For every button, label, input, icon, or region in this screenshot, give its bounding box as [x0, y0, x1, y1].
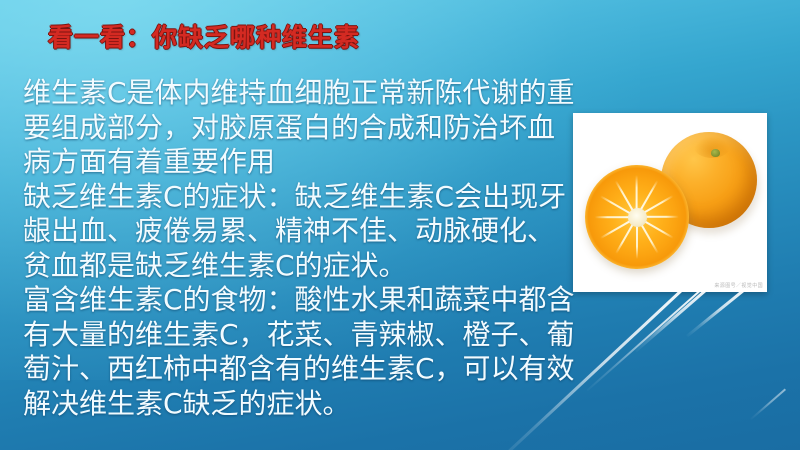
orange-photo: 来源图号／视觉中国 [573, 113, 767, 292]
orange-photo-frame: 来源图号／视觉中国 [573, 113, 767, 292]
paragraph-food-sources: 富含维生素C的食物：酸性水果和蔬菜中都含有大量的维生素C，花菜、青辣椒、橙子、葡… [23, 283, 575, 421]
orange-core-icon [628, 208, 647, 227]
decorative-ray [686, 290, 744, 338]
decorative-ray [635, 290, 706, 353]
orange-stem-icon [711, 149, 720, 157]
page-title: 看一看：你缺乏哪种维生素 [48, 18, 360, 54]
body-text-block: 维生素C是体内维持血细胞正常新陈代谢的重要组成部分，对胶原蛋白的合成和防治坏血病… [23, 76, 575, 421]
decorative-ray [586, 291, 700, 392]
paragraph-symptoms: 缺乏维生素C的症状：缺乏维生素C会出现牙龈出血、疲倦易累、精神不佳、动脉硬化、贫… [23, 180, 575, 284]
decorative-ray [750, 389, 786, 420]
halved-orange-icon [585, 165, 689, 269]
paragraph-definition: 维生素C是体内维持血细胞正常新陈代谢的重要组成部分，对胶原蛋白的合成和防治坏血病… [23, 76, 575, 180]
slide-canvas: 看一看：你缺乏哪种维生素 维生素C是体内维持血细胞正常新陈代谢的重要组成部分，对… [0, 0, 800, 450]
photo-watermark: 来源图号／视觉中国 [714, 282, 763, 289]
